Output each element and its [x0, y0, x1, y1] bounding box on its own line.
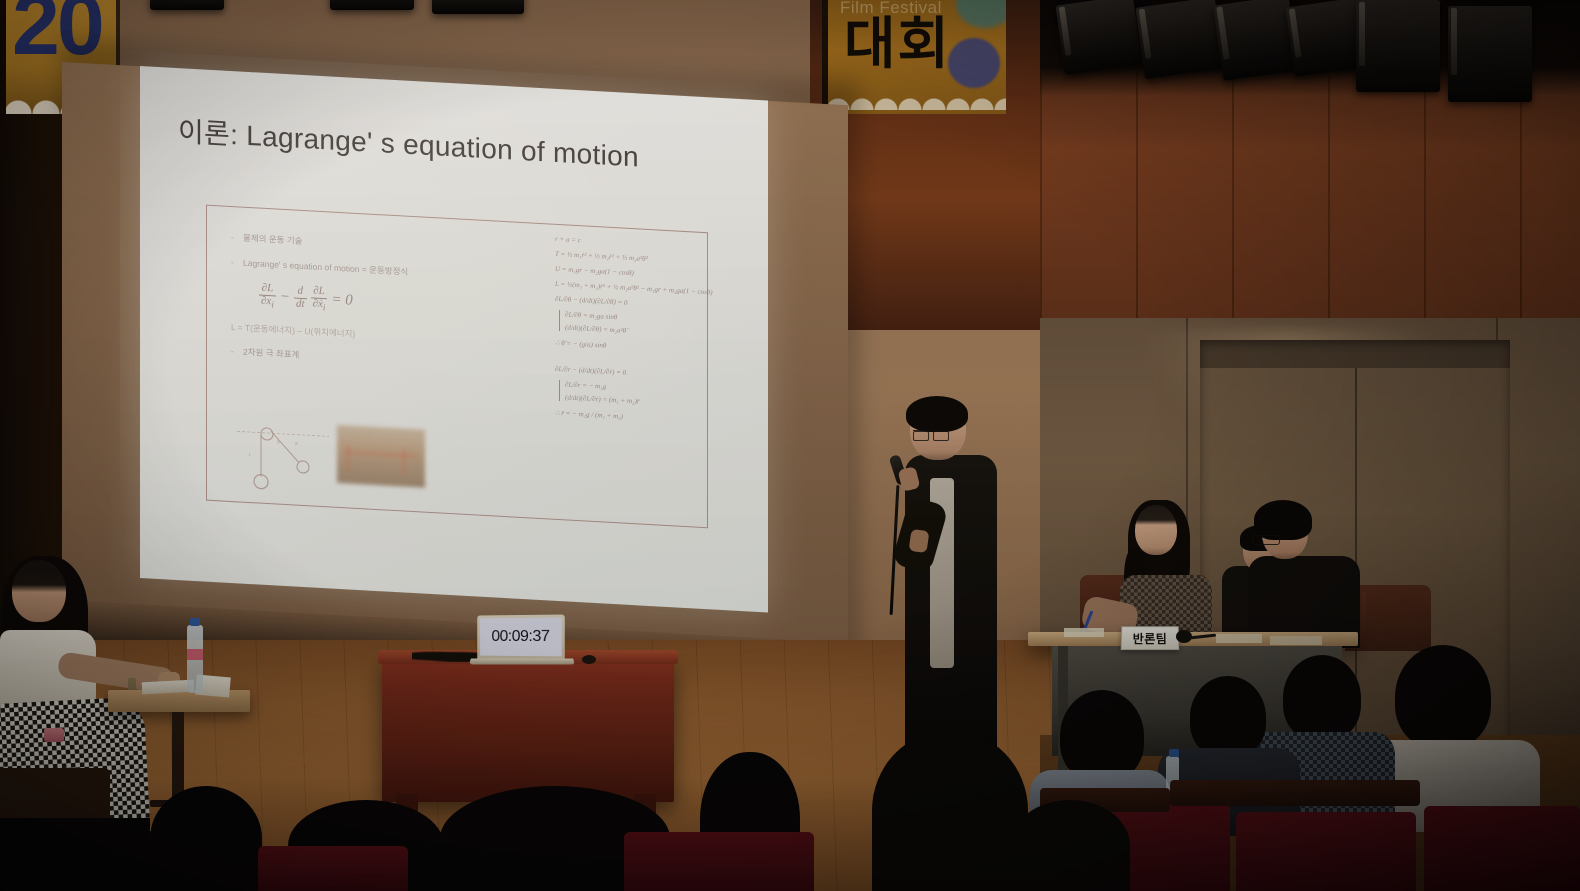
left-person-head [12, 560, 66, 622]
audience-head [1060, 690, 1144, 782]
stage-light-icon [330, 0, 414, 10]
audience-head [1190, 676, 1266, 758]
laptop-screen: 00:09:37 [480, 618, 562, 657]
bullet-text: Lagrange' s equation of motion = 운동방정식 [243, 258, 408, 277]
derivation-column: r + a = c T = ½ m₁ṙ² + ½ m₂ṙ² + ½ m₂a²θ̇… [555, 235, 768, 437]
d-dt-operator: d dt [294, 286, 307, 311]
projection-screen: 이론: Lagrange' s equation of motion -물체의 … [140, 66, 768, 613]
countdown-timer: 00:09:37 [491, 628, 549, 646]
stage-light-icon [432, 0, 524, 14]
center-desk [382, 658, 674, 802]
festival-banner-hangul: 대회 [844, 16, 951, 72]
eyeglasses-icon [913, 430, 949, 439]
stage-light-icon [1135, 0, 1224, 79]
water-bottle [187, 625, 203, 693]
photo-rail [345, 451, 417, 457]
equation-line: ∴ r̈ = − m₁g / (m₁ + m₂) [555, 409, 768, 430]
photo-post [403, 448, 405, 474]
list-item: -Lagrange' s equation of motion = 운동방정식 [231, 256, 481, 282]
team-nameplate: 반론팀 [1121, 626, 1180, 650]
lecture-hall-scene: 20 Film Festival 대회 이론: Lagrange' s equa… [0, 0, 1580, 891]
bullet-dash: - [231, 346, 243, 357]
papers [1064, 628, 1104, 637]
stage-light-icon [1056, 0, 1143, 75]
audience-head [150, 786, 262, 891]
door-header [1200, 340, 1510, 368]
stage-light-icon [1448, 6, 1532, 102]
bullet-dash: - [231, 232, 243, 243]
partial-L-partial-xdot: ∂L ∂ẋi [311, 285, 328, 312]
papers [1270, 636, 1322, 645]
desk-microphone-icon [1176, 630, 1192, 643]
seat-back-rail [1170, 780, 1420, 806]
bottle-cap [190, 618, 200, 626]
light-lens [1289, 8, 1302, 57]
slide-content-box: -물체의 운동 기술 -Lagrange' s equation of moti… [206, 205, 708, 529]
equals-zero: = 0 [331, 291, 352, 309]
lagrange-equation: ∂L ∂xi − d dt ∂L ∂ẋi = 0 [259, 283, 481, 322]
svg-text:θ: θ [277, 440, 280, 446]
svg-text:a: a [295, 441, 298, 447]
equation-line: ∴ θ̈ = − (g/a) sinθ [555, 339, 768, 360]
photo-post [347, 445, 349, 471]
list-item: -2차원 극 좌표계 [231, 345, 481, 371]
blurred-apparatus-photo [337, 425, 425, 488]
light-lens [1139, 9, 1152, 60]
presenter-hand [909, 529, 930, 553]
bottle-label [187, 649, 203, 660]
eyeglasses-icon [1252, 535, 1280, 545]
partial-L-partial-x: ∂L ∂xi [259, 283, 276, 310]
audience-foreground [0, 818, 150, 891]
pink-cup [44, 728, 64, 742]
banner-circle-decor [948, 38, 1000, 88]
theater-seat [258, 846, 408, 891]
bottle-cap [1169, 749, 1179, 757]
lagrangian-definition: L = T(운동에너지) – U(위치에너지) [231, 321, 481, 347]
presenter-hair [906, 396, 968, 432]
bullet-text: 2차원 극 좌표계 [243, 347, 299, 360]
equation-brace-group: ∂L/∂θ = m₂ga sinθ (d/dt)(∂L/∂θ̇) = m₂a²θ… [559, 310, 768, 344]
list-item: -물체의 운동 기술 [231, 231, 481, 257]
audience-head [1010, 800, 1130, 891]
svg-text:r: r [249, 452, 251, 458]
theater-seat [1424, 806, 1580, 891]
stage-light-icon [150, 0, 224, 10]
audience-head [1395, 645, 1491, 749]
laptop-base [469, 659, 575, 665]
slide-bullet-list: -물체의 운동 기술 -Lagrange' s equation of moti… [231, 231, 481, 384]
bullet-dash: - [231, 257, 243, 268]
timer-laptop[interactable]: 00:09:37 [474, 615, 584, 667]
theater-seat [1236, 812, 1416, 891]
banner-circle-decor [956, 0, 1006, 28]
audience-head [872, 730, 1028, 891]
equation-brace-group: ∂L/∂r = − m₁g (d/dt)(∂L/∂ṙ) = (m₁ + m₂)r… [559, 380, 768, 414]
nameplate-label: 반론팀 [1133, 630, 1168, 647]
laptop-lid: 00:09:37 [477, 614, 565, 659]
light-lens [1359, 2, 1365, 66]
audience-head [1283, 655, 1361, 741]
bullet-text: 물체의 운동 기술 [243, 233, 302, 246]
papers [1216, 634, 1262, 643]
theater-seat [624, 832, 814, 891]
panelist-head [1135, 505, 1177, 555]
minus-sign: − [280, 288, 290, 306]
slide-title: 이론: Lagrange' s equation of motion [178, 110, 639, 175]
light-lens [1451, 8, 1457, 75]
pendulum-pulley-diagram: r θ a [233, 419, 333, 495]
computer-mouse[interactable] [582, 655, 596, 664]
panelist-hair [1254, 500, 1312, 540]
stage-light-icon [1356, 0, 1440, 92]
light-lens [1059, 6, 1072, 55]
